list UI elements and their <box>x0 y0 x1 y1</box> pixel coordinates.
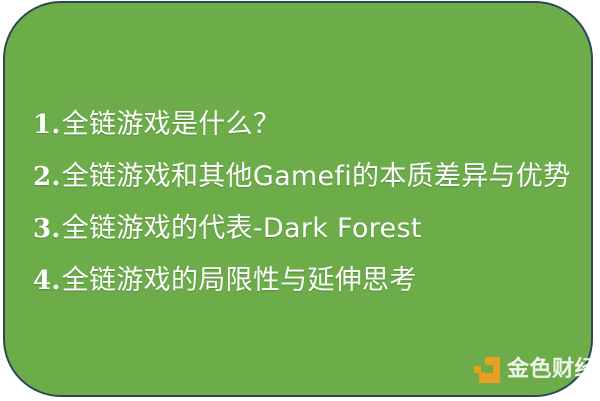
agenda-item-4: 4.全链游戏的局限性与延伸思考 <box>33 255 599 307</box>
agenda-item-label: 全链游戏的局限性与延伸思考 <box>62 265 417 296</box>
watermark-brand-text: 金色财经 <box>507 357 597 383</box>
agenda-item-1: 1.全链游戏是什么？ <box>33 99 599 151</box>
slide-image: 1.全链游戏是什么？ 2.全链游戏和其他Gamefi的本质差异与优势 3.全链游… <box>0 0 600 401</box>
agenda-item-index: 4. <box>33 266 62 296</box>
agenda-list: 1.全链游戏是什么？ 2.全链游戏和其他Gamefi的本质差异与优势 3.全链游… <box>33 99 599 307</box>
watermark: 金色财经 <box>474 357 597 383</box>
agenda-item-index: 3. <box>33 214 62 244</box>
agenda-item-label: 全链游戏的代表-Dark Forest <box>62 213 422 244</box>
agenda-item-3: 3.全链游戏的代表-Dark Forest <box>33 203 599 255</box>
agenda-item-2: 2.全链游戏和其他Gamefi的本质差异与优势 <box>33 151 599 203</box>
logo-shape-bottom <box>479 372 500 383</box>
agenda-item-index: 1. <box>33 110 62 140</box>
jinse-bracket-logo-icon <box>474 357 500 383</box>
slide-panel: 1.全链游戏是什么？ 2.全链游戏和其他Gamefi的本质差异与优势 3.全链游… <box>3 1 593 397</box>
logo-shape-dot <box>474 366 481 373</box>
agenda-item-index: 2. <box>33 162 62 192</box>
agenda-item-label: 全链游戏是什么？ <box>62 109 280 140</box>
agenda-item-label: 全链游戏和其他Gamefi的本质差异与优势 <box>62 161 571 192</box>
logo-shape-notch <box>485 365 493 373</box>
